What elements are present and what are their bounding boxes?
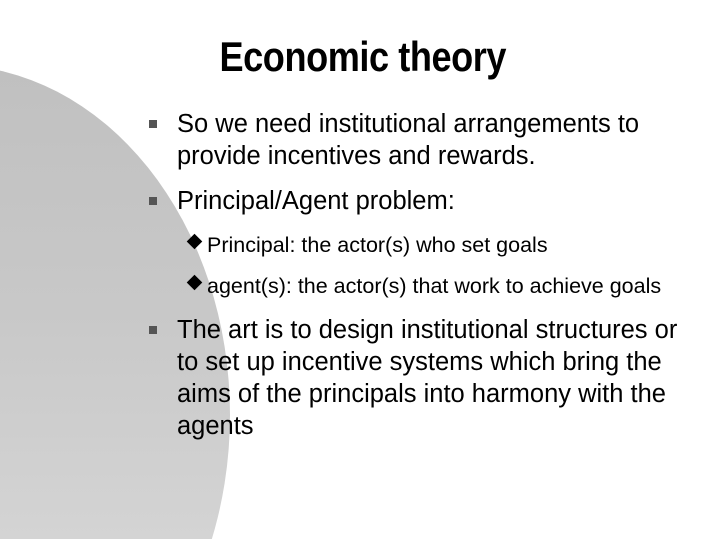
page-title: Economic theory xyxy=(54,36,672,78)
bullet-text: Principal/Agent problem: xyxy=(177,185,705,217)
bullet-item-1: So we need institutional arrangements to… xyxy=(145,108,705,172)
square-bullet-icon xyxy=(149,120,157,128)
bullet-item-3: Principal: the actor(s) who set goals xyxy=(145,231,705,259)
diamond-bullet-icon xyxy=(187,275,203,291)
bullet-spacer xyxy=(145,172,705,185)
bullet-item-2: Principal/Agent problem: xyxy=(145,185,705,217)
bullet-item-5: The art is to design institutional struc… xyxy=(145,314,705,442)
diamond-bullet-icon xyxy=(187,234,203,250)
bullet-spacer xyxy=(145,300,705,314)
slide-body: So we need institutional arrangements to… xyxy=(145,108,705,442)
bullet-text: So we need institutional arrangements to… xyxy=(177,108,705,172)
bullet-spacer xyxy=(145,217,705,231)
bullet-text: The art is to design institutional struc… xyxy=(177,314,705,442)
bullet-text: agent(s): the actor(s) that work to achi… xyxy=(207,272,705,300)
bullet-spacer xyxy=(145,259,705,272)
bullet-item-4: agent(s): the actor(s) that work to achi… xyxy=(145,272,705,300)
slide-canvas: Economic theory So we need institutional… xyxy=(0,0,719,539)
square-bullet-icon xyxy=(149,197,157,205)
bullet-text: Principal: the actor(s) who set goals xyxy=(207,231,705,259)
square-bullet-icon xyxy=(149,326,157,334)
